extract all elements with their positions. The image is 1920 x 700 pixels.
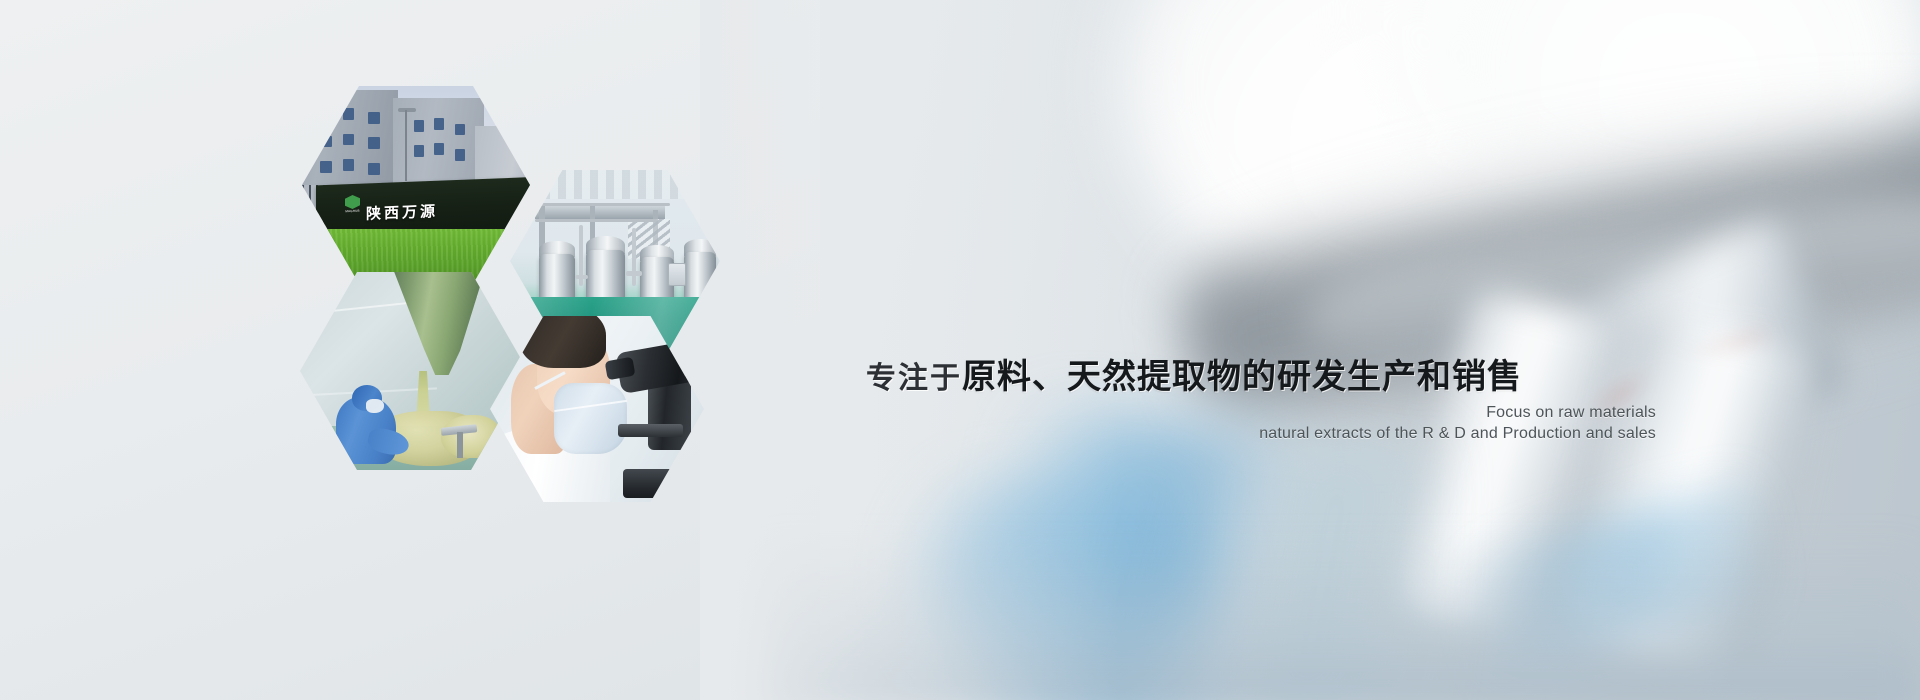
hexagon-production-filling — [300, 272, 528, 470]
worker-face-mask — [366, 399, 384, 413]
factory-lamp-head — [398, 108, 416, 112]
subtitle-line-1: Focus on raw materials — [1486, 404, 1656, 422]
subtitle-line-2: natural extracts of the R & D and Produc… — [1259, 425, 1656, 443]
company-logo-icon: MAGHUB — [345, 195, 360, 213]
hexagon-photo-cluster: MAGHUB 陕西万源 — [298, 84, 718, 458]
plant-mezzanine — [535, 206, 665, 219]
scientist-hair — [520, 316, 606, 368]
hexagon-factory-gate: MAGHUB 陕西万源 — [302, 86, 530, 284]
banner-headline: 专注于原料、天然提取物的研发生产和销售 — [866, 360, 1656, 394]
plant-control-panel — [668, 263, 687, 287]
factory-lamp-pole — [405, 110, 407, 181]
scientist-face-mask — [554, 383, 627, 454]
headline-emphasis: 原料、天然提取物的研发生产和销售 — [962, 357, 1522, 397]
microscope-stage — [618, 424, 682, 437]
banner-subtitle: Focus on raw materials natural extracts … — [866, 404, 1656, 474]
headline-lead: 专注于 — [866, 361, 962, 396]
background-seam-gradient — [700, 0, 1120, 700]
extract-bag-secondary — [441, 415, 500, 459]
hero-banner: MAGHUB 陕西万源 — [0, 0, 1920, 700]
plant-ceiling — [510, 170, 720, 199]
